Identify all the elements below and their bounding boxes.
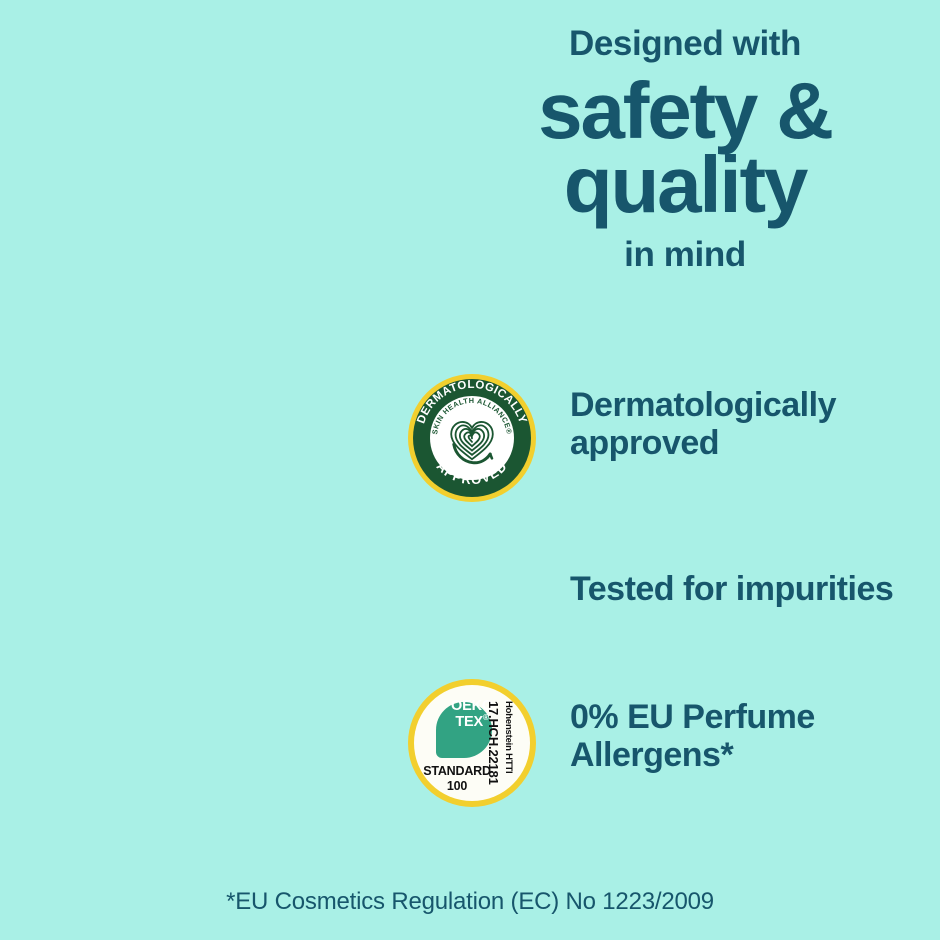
claim-label-tested-for-impurities: Tested for impurities bbox=[570, 570, 893, 608]
claim-label-line-1: Tested for impurities bbox=[570, 570, 893, 608]
promo-poster: Designed with safety & quality in mind D… bbox=[0, 0, 940, 940]
headline-block: Designed with safety & quality in mind bbox=[430, 26, 940, 272]
headline-tail: in mind bbox=[430, 237, 940, 272]
baby-photo-image bbox=[0, 0, 420, 670]
footnote: *EU Cosmetics Regulation (EC) No 1223/20… bbox=[0, 888, 940, 916]
fingerprint-heart-icon bbox=[444, 415, 500, 467]
claim-label-line-1: Dermatologically bbox=[570, 386, 836, 424]
claim-label-line-2: Allergens* bbox=[570, 736, 815, 774]
claim-row-zero-eu-perfume-allergens: 0 % 0% EU Perfume Allergens* bbox=[400, 680, 940, 835]
headline-line-2: quality bbox=[430, 145, 940, 225]
claims-list: DERMATOLOGICALLY APPROVED SKIN HEALTH AL… bbox=[400, 370, 940, 835]
claim-row-dermatologically-approved: DERMATOLOGICALLY APPROVED SKIN HEALTH AL… bbox=[400, 370, 940, 525]
claim-label-line-1: 0% EU Perfume bbox=[570, 698, 815, 736]
headline-line-1: safety & bbox=[430, 71, 940, 151]
claim-label-zero-eu-perfume-allergens: 0% EU Perfume Allergens* bbox=[570, 698, 815, 774]
headline-kicker: Designed with bbox=[430, 26, 940, 61]
claim-label-line-2: approved bbox=[570, 424, 836, 462]
skin-health-alliance-badge: DERMATOLOGICALLY APPROVED SKIN HEALTH AL… bbox=[408, 374, 536, 502]
baby-photo bbox=[0, 0, 420, 670]
claim-row-tested-for-impurities: OEKO TEX® STANDARD 100 17.HCH.22181 Hohe… bbox=[400, 525, 940, 680]
claim-label-dermatologically-approved: Dermatologically approved bbox=[570, 386, 836, 462]
